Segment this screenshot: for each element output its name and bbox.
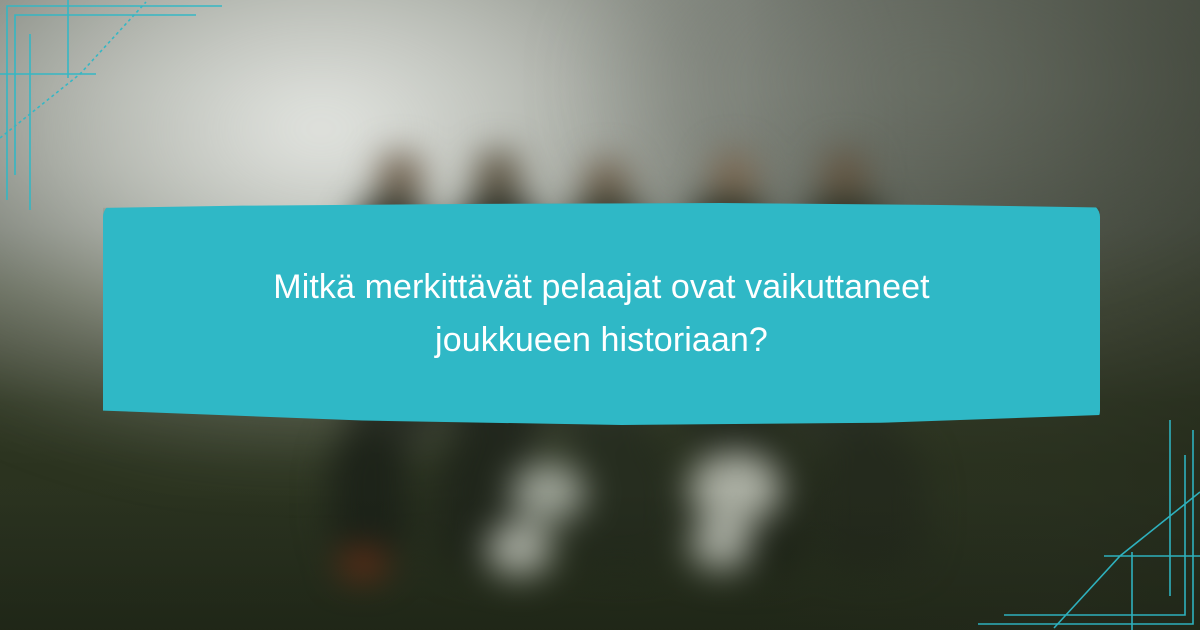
share-card-canvas: Mitkä merkittävät pelaajat ovat vaikutta… — [0, 0, 1200, 630]
question-banner: Mitkä merkittävät pelaajat ovat vaikutta… — [103, 203, 1100, 425]
question-title: Mitkä merkittävät pelaajat ovat vaikutta… — [202, 261, 1002, 366]
question-banner-content: Mitkä merkittävät pelaajat ovat vaikutta… — [103, 203, 1100, 425]
